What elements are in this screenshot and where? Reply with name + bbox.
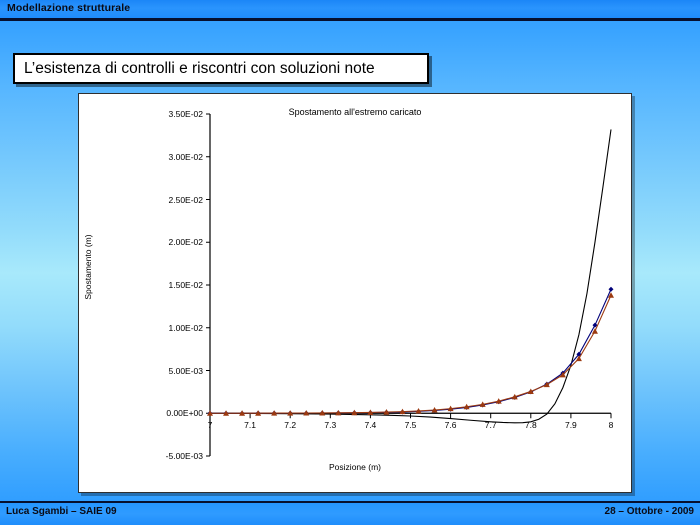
y-axis-title: Spostamento (m)	[83, 137, 93, 397]
chart-panel: Spostamento all'estremo caricato Spostam…	[78, 93, 632, 493]
y-tick-label: 5.00E-03	[79, 366, 203, 376]
footer-bar: Luca Sgambi – SAIE 09 28 – Ottobre - 200…	[0, 503, 700, 525]
x-tick-label: 7.7	[477, 420, 505, 430]
series-line-analytical-black-curve	[210, 129, 611, 422]
x-tick-label: 7.3	[316, 420, 344, 430]
x-axis-title: Posizione (m)	[79, 462, 631, 472]
footer-date: 28 – Ottobre - 2009	[605, 506, 694, 517]
x-tick-label: 7	[196, 420, 224, 430]
slide-background: Modellazione strutturale L’esistenza di …	[0, 0, 700, 525]
y-tick-label: -5.00E-03	[79, 451, 203, 461]
y-tick-label: 2.50E-02	[79, 195, 203, 205]
x-tick-label: 7.5	[397, 420, 425, 430]
series-line-numerical-brown-triangles	[210, 295, 611, 413]
y-tick-label: 3.50E-02	[79, 109, 203, 119]
header-title: Modellazione strutturale	[7, 2, 130, 14]
slide-title-box: L’esistenza di controlli e riscontri con…	[13, 53, 429, 84]
header-divider	[0, 18, 700, 21]
chart-area: Spostamento all'estremo caricato Spostam…	[79, 94, 631, 492]
x-tick-label: 7.1	[236, 420, 264, 430]
x-tick-label: 8	[597, 420, 625, 430]
series-marker-diamond	[609, 287, 614, 292]
x-tick-label: 7.2	[276, 420, 304, 430]
y-tick-label: 2.00E-02	[79, 237, 203, 247]
y-tick-label: 1.50E-02	[79, 280, 203, 290]
header-bar: Modellazione strutturale	[0, 0, 700, 18]
y-tick-label: 0.00E+00	[79, 408, 203, 418]
x-tick-label: 7.8	[517, 420, 545, 430]
x-tick-label: 7.4	[356, 420, 384, 430]
y-tick-label: 1.00E-02	[79, 323, 203, 333]
series-line-numerical-blue-diamonds	[210, 289, 611, 413]
footer-author: Luca Sgambi – SAIE 09	[6, 506, 117, 517]
x-tick-label: 7.9	[557, 420, 585, 430]
y-tick-label: 3.00E-02	[79, 152, 203, 162]
x-tick-label: 7.6	[437, 420, 465, 430]
page-title: L’esistenza di controlli e riscontri con…	[15, 60, 375, 78]
